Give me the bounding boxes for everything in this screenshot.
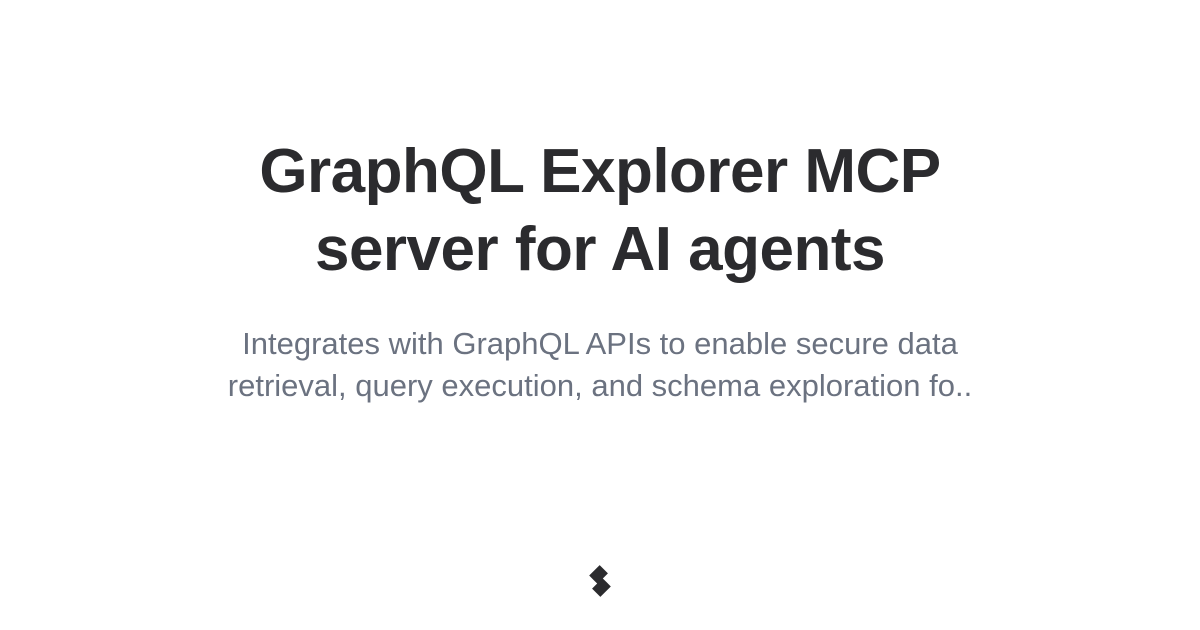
- brand-logo: [582, 563, 618, 599]
- og-share-card: GraphQL Explorer MCP server for AI agent…: [0, 0, 1200, 630]
- lightning-bolt-diamond-icon: [582, 563, 618, 599]
- page-title: GraphQL Explorer MCP server for AI agent…: [180, 133, 1020, 289]
- card-content-block: GraphQL Explorer MCP server for AI agent…: [0, 0, 1200, 540]
- page-subtitle: Integrates with GraphQL APIs to enable s…: [150, 323, 1050, 407]
